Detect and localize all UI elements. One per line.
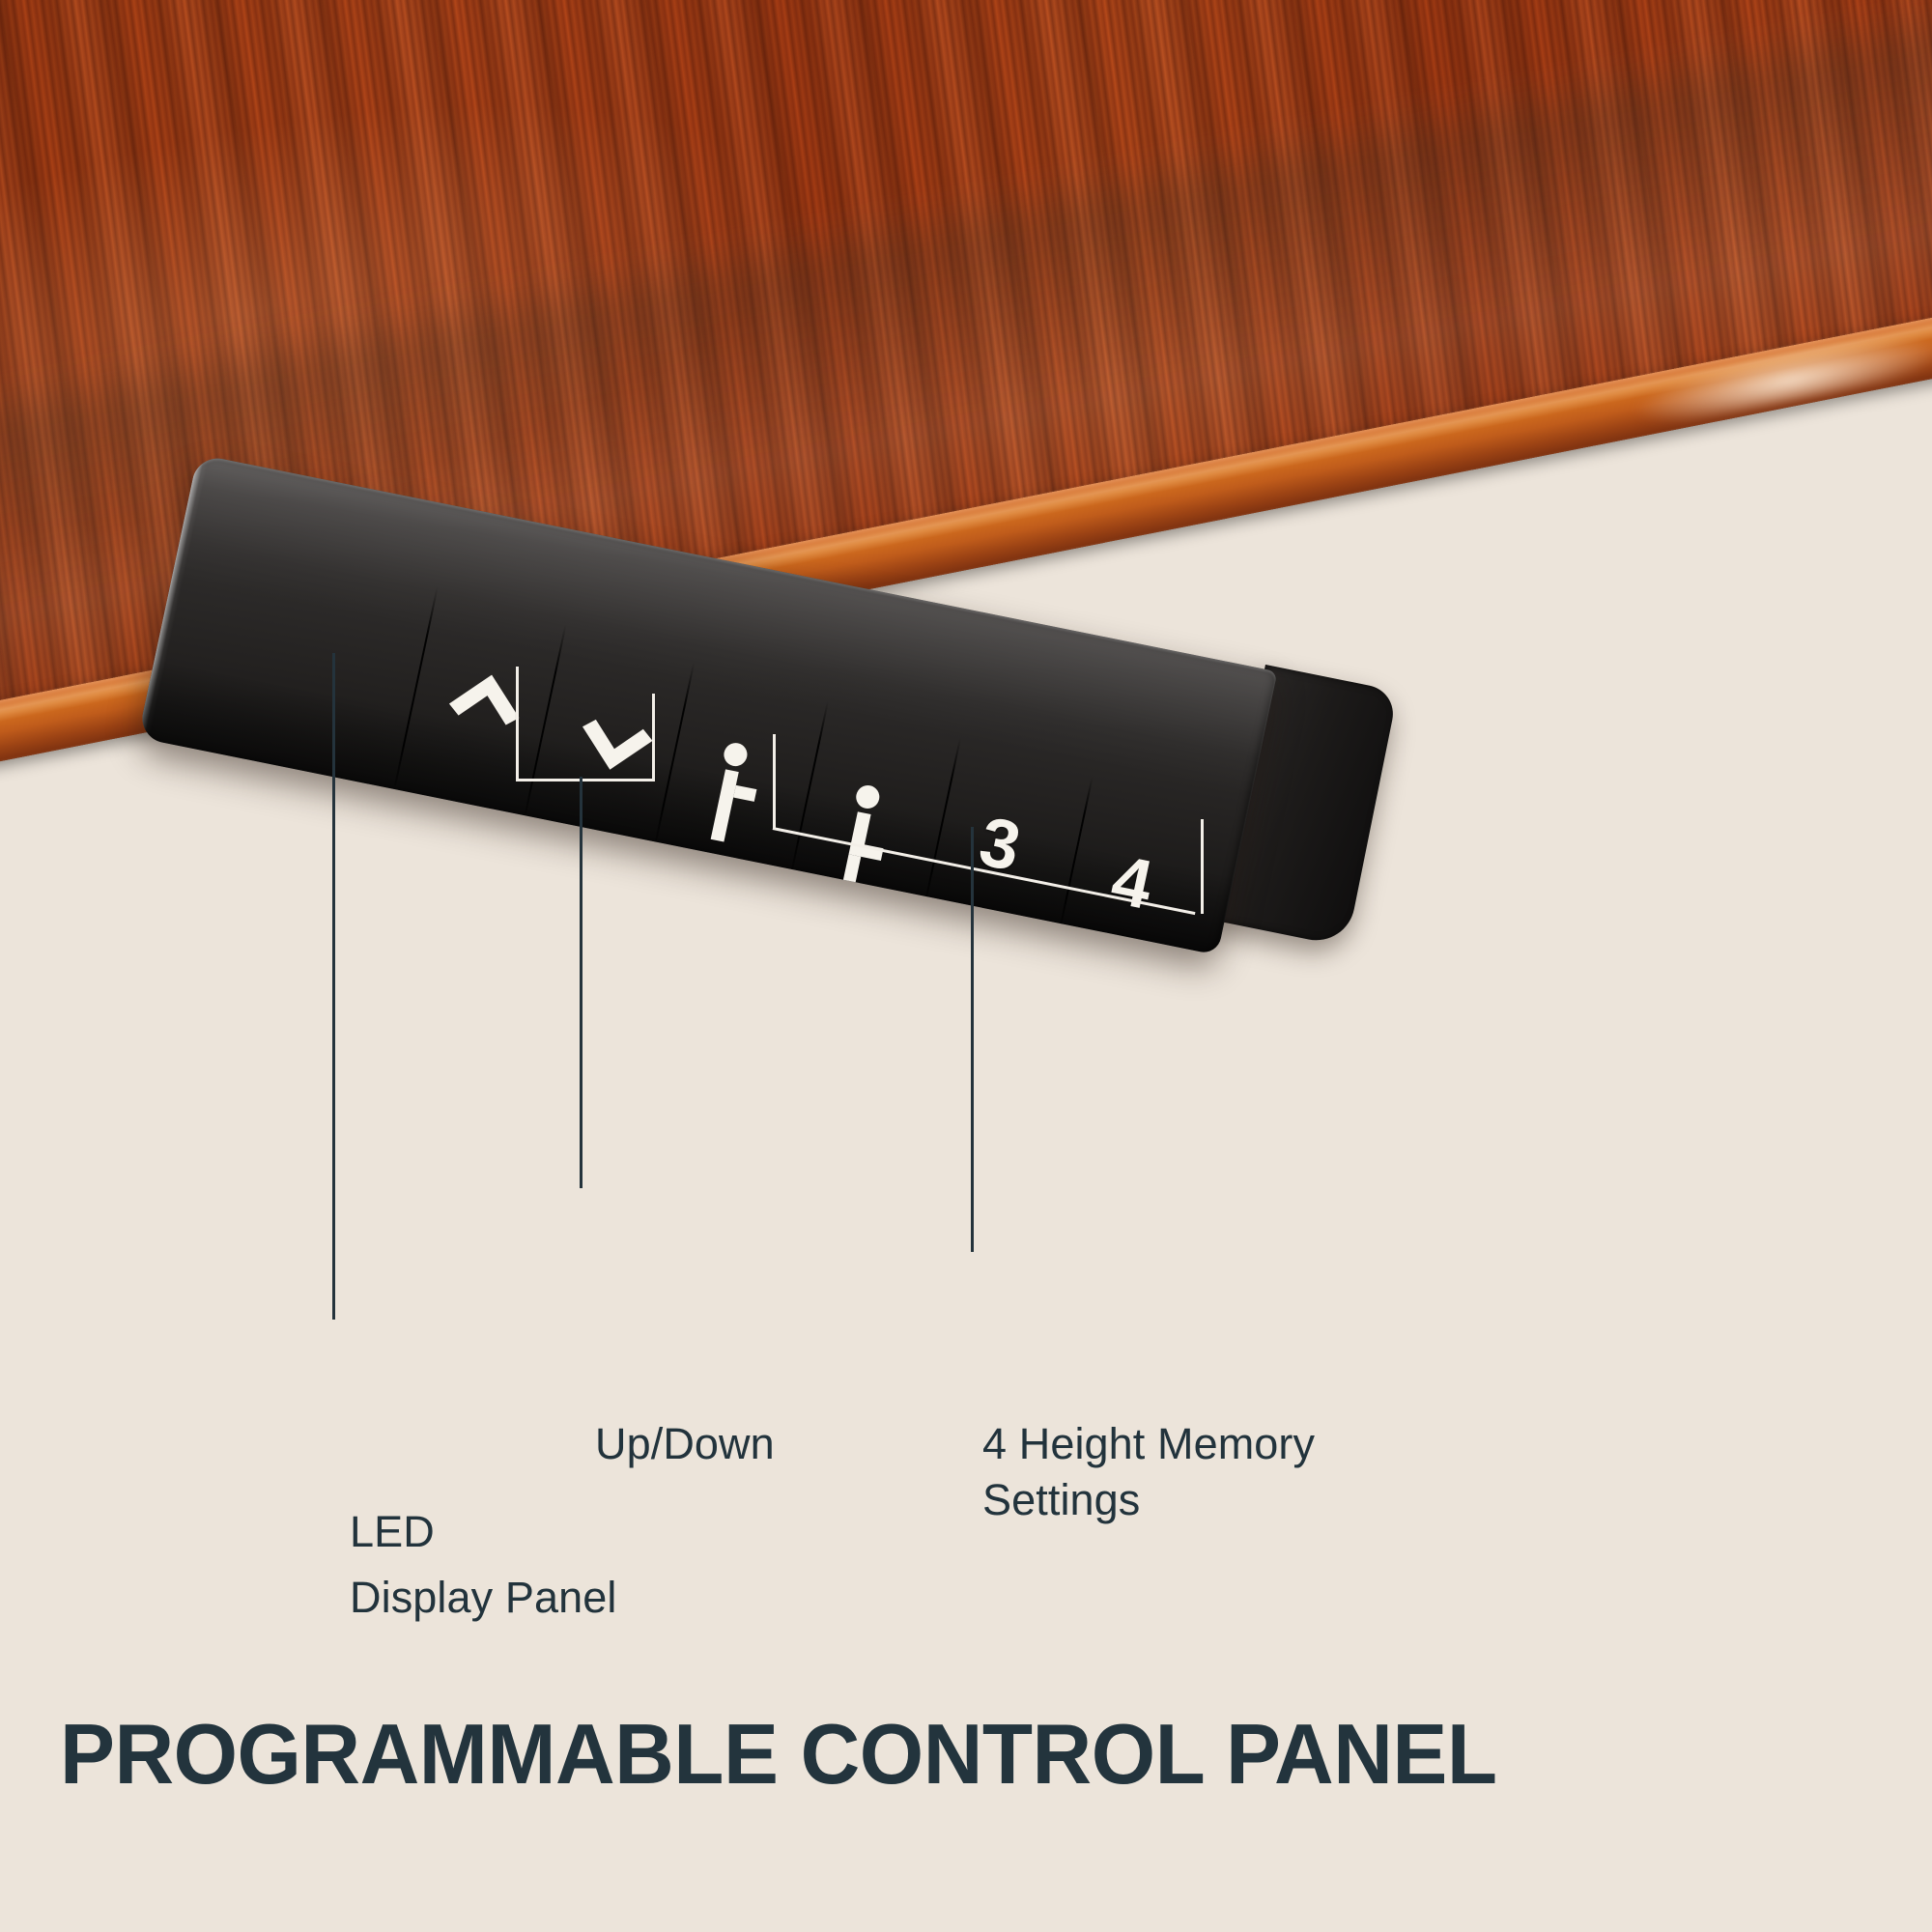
updown-leader-line: [580, 777, 582, 1188]
updown-pointer-left: [516, 667, 519, 781]
led-leader-line: [332, 653, 335, 1320]
product-feature-image: 3 4 Up/Down 4 Height Memory Settings LED…: [0, 0, 1932, 1932]
callout-height-memory: 4 Height Memory Settings: [982, 1416, 1315, 1527]
control-panel-face[interactable]: 3 4: [138, 454, 1278, 955]
callout-led-display: LED Display Panel: [350, 1499, 616, 1632]
control-panel[interactable]: 3 4: [198, 454, 1338, 956]
updown-pointer-bracket: [516, 779, 655, 781]
memory-pointer-left: [773, 734, 776, 829]
page-headline: PROGRAMMABLE CONTROL PANEL: [60, 1705, 1496, 1804]
memory-pointer-right: [1201, 819, 1204, 914]
callout-updown: Up/Down: [595, 1416, 775, 1472]
memory-leader-line: [971, 827, 974, 1252]
updown-pointer-right: [652, 694, 655, 781]
